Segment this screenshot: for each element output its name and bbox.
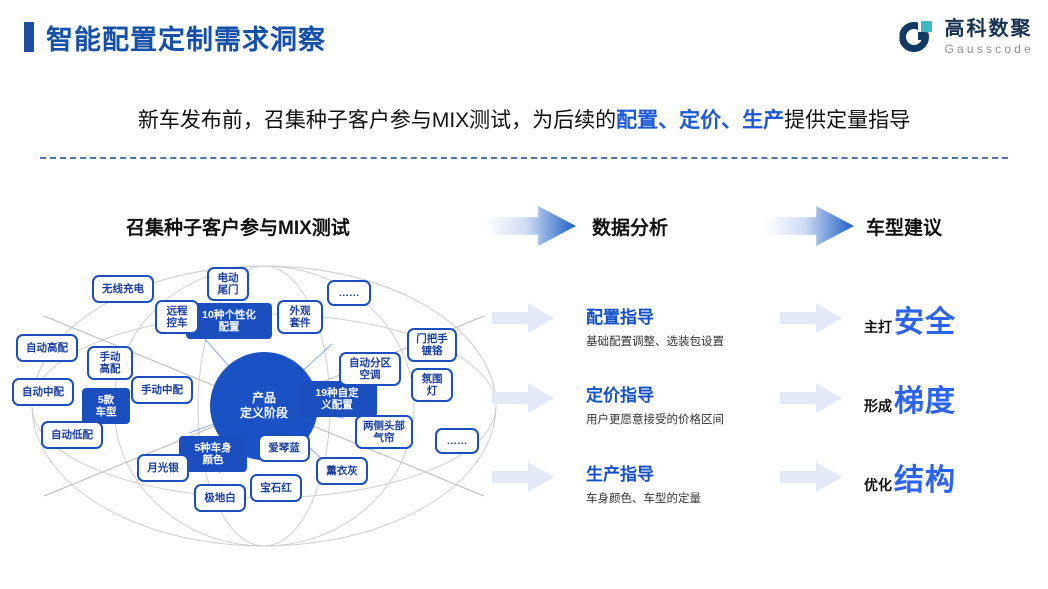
cluster-node-auto-mid[interactable]: 自动中配 [12,378,74,406]
section-divider [40,157,1008,159]
product-definition-cluster: 产品 定义阶段 10种个性化 配置 19种自定 义配置 5款 车型 5种车身 颜… [14,258,514,548]
recommendation-gradient: 形成 梯度 [864,376,956,420]
recommendation-word-structure: 结构 [894,455,956,499]
analysis-desc-production: 车身颜色、车型的定量 [586,490,701,506]
analysis-title-production: 生产指导 [586,460,701,485]
flow-arrow-right-3-icon [780,462,842,492]
logo-text: 高科数聚 Gausscode [944,19,1034,55]
cluster-node-auto-low[interactable]: 自动低配 [41,421,103,449]
logo-navy-square-icon [918,32,926,40]
analysis-desc-pricing: 用户更愿意接受的价格区间 [586,411,724,427]
cluster-node-ambient-light[interactable]: 氛围 灯 [411,368,453,402]
recommendation-structure: 优化 结构 [864,455,956,499]
recommendation-word-gradient: 梯度 [894,376,956,420]
logo-mark-icon [899,19,935,55]
cluster-group-colors[interactable]: 5种车身 颜色 [179,436,247,472]
recommendation-word-safety: 安全 [894,297,956,341]
subtitle-highlight: 配置、定价、生产 [616,109,784,132]
cluster-node-wireless-charging[interactable]: 无线充电 [92,275,154,303]
cluster-node-lavender-grey[interactable]: 薰衣灰 [316,457,368,485]
cluster-node-more-top[interactable]: …… [327,280,371,306]
cluster-group-models[interactable]: 5款 车型 [82,388,130,424]
subtitle-suffix: 提供定量指导 [784,109,910,132]
analysis-item-production[interactable]: 生产指导 车身颜色、车型的定量 [586,460,701,506]
subtitle-line: 新车发布前，召集种子客户参与MIX测试，为后续的配置、定价、生产提供定量指导 [0,104,1048,134]
logo-teal-square-icon [921,21,932,32]
cluster-node-appearance-kit[interactable]: 外观 套件 [277,300,323,334]
slide: 智能配置定制需求洞察 高科数聚 Gausscode 新车发布前，召集种子客户参与… [0,0,1048,589]
flow-arrow-right-2-icon [780,383,842,413]
analysis-item-config[interactable]: 配置指导 基础配置调整、选装包设置 [586,303,724,349]
stage-heading-recommend: 车型建议 [866,213,942,240]
analysis-desc-config: 基础配置调整、选装包设置 [586,333,724,349]
brand-logo: 高科数聚 Gausscode [899,14,1034,60]
cluster-node-remote-control[interactable]: 远程 控车 [155,300,199,334]
recommendation-prefix-safety: 主打 [864,317,892,337]
cluster-node-aegean-blue[interactable]: 爱琴蓝 [258,434,310,462]
analysis-title-pricing: 定价指导 [586,381,724,406]
cluster-node-manual-mid[interactable]: 手动中配 [131,376,193,404]
page-title: 智能配置定制需求洞察 [46,18,326,57]
recommendation-safety: 主打 安全 [864,297,956,341]
stage-heading-collect: 召集种子客户参与MIX测试 [126,213,350,240]
subtitle-prefix: 新车发布前，召集种子客户参与MIX测试，为后续的 [138,109,616,132]
logo-name-cn: 高科数聚 [944,19,1034,39]
stage-arrow-2-icon [764,206,854,246]
logo-name-en: Gausscode [944,43,1034,55]
flow-arrow-right-1-icon [780,303,842,333]
cluster-node-ruby-red[interactable]: 宝石红 [250,474,302,502]
slide-header: 智能配置定制需求洞察 高科数聚 Gausscode [0,0,1048,72]
stage-heading-analysis: 数据分析 [592,213,668,240]
cluster-node-manual-high[interactable]: 手动 高配 [87,346,133,380]
title-accent-bar [24,22,34,52]
cluster-group-custom[interactable]: 19种自定 义配置 [297,381,377,417]
recommendation-prefix-gradient: 形成 [864,396,892,416]
analysis-item-pricing[interactable]: 定价指导 用户更愿意接受的价格区间 [586,381,724,427]
cluster-node-door-handle-chrome[interactable]: 门把手 镀铬 [407,328,457,362]
cluster-node-auto-high[interactable]: 自动高配 [16,334,78,362]
cluster-node-more-right[interactable]: …… [435,428,479,454]
recommendation-prefix-structure: 优化 [864,475,892,495]
cluster-node-auto-dual-zone-ac[interactable]: 自动分区 空调 [339,352,401,386]
cluster-node-side-head-curtain[interactable]: 两侧头部 气帘 [355,415,413,449]
stage-arrow-1-icon [486,206,576,246]
cluster-node-power-tailgate[interactable]: 电动 尾门 [207,267,249,301]
analysis-title-config: 配置指导 [586,303,724,328]
cluster-node-moonlight-silver[interactable]: 月光银 [137,454,189,482]
cluster-node-polar-white[interactable]: 极地白 [194,484,246,512]
